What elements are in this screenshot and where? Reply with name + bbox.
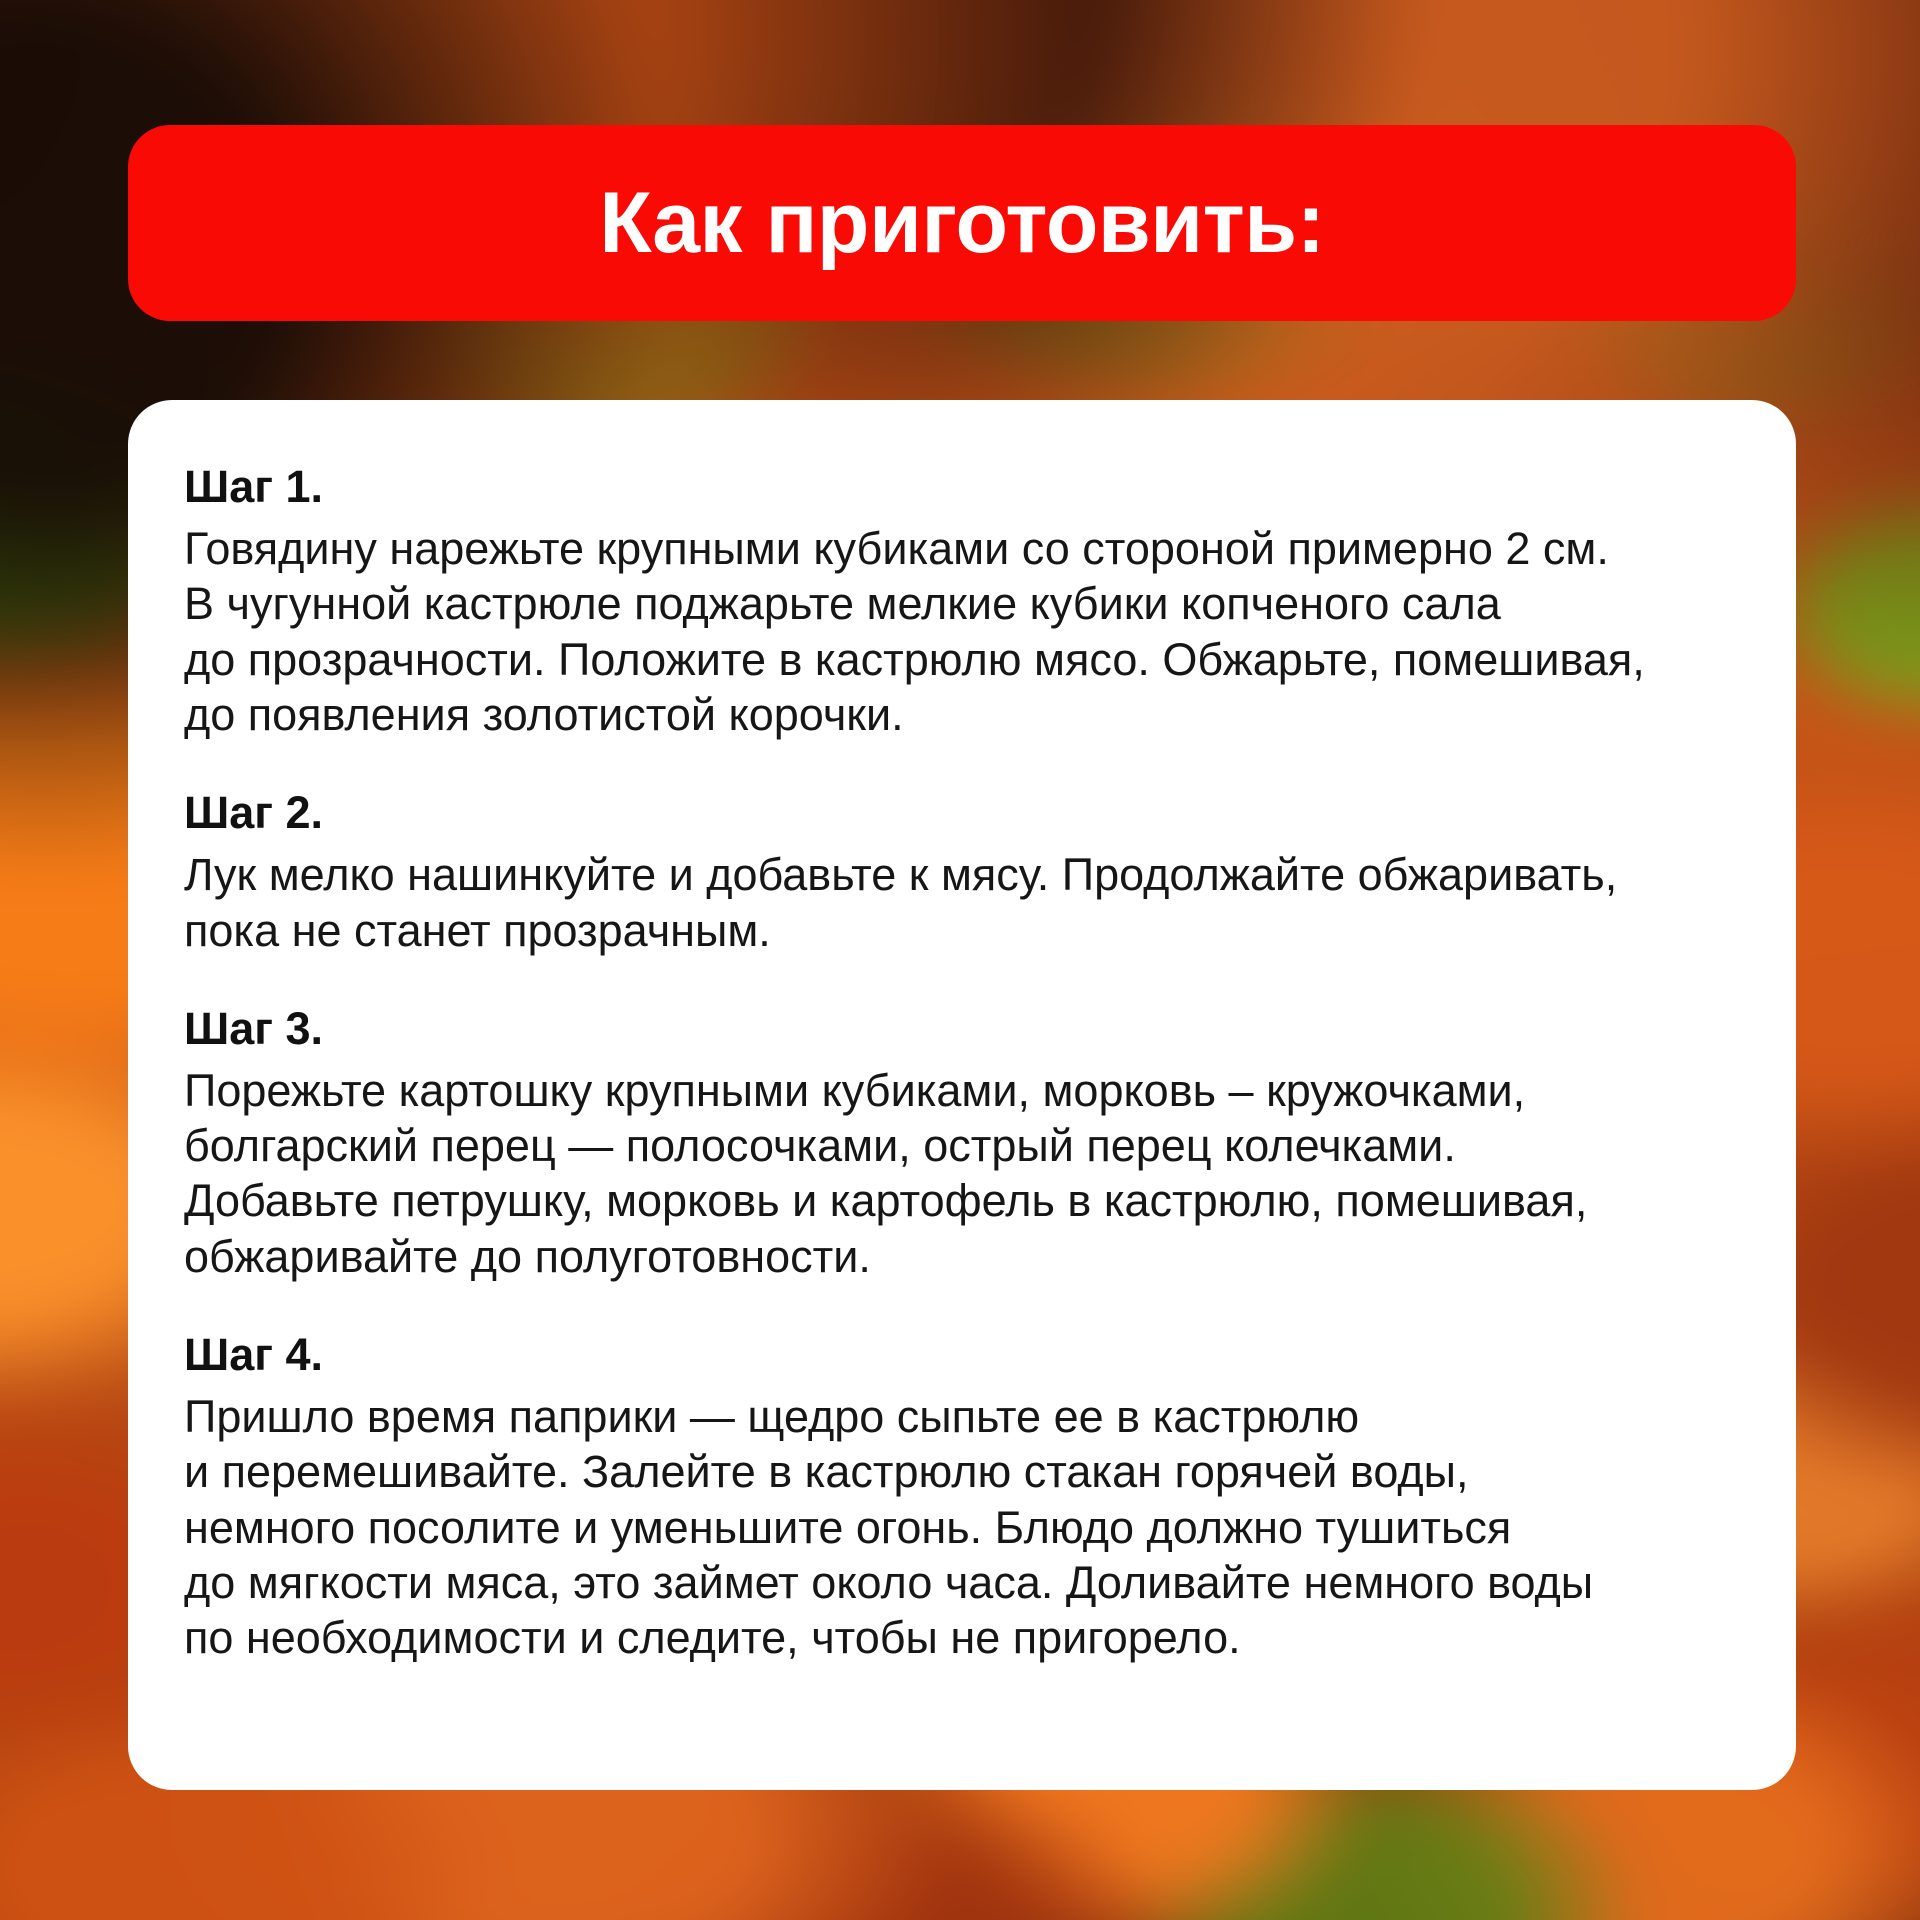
step-heading-3: Шаг 3.	[184, 1002, 1740, 1057]
step-heading-2: Шаг 2.	[184, 786, 1740, 841]
steps-card: Шаг 1. Говядину нарежьте крупными кубика…	[128, 400, 1796, 1790]
step-block-2: Шаг 2. Лук мелко нашинкуйте и добавьте к…	[184, 786, 1740, 958]
recipe-card-page: Как приготовить: Шаг 1. Говядину нарежьт…	[0, 0, 1920, 1920]
step-block-1: Шаг 1. Говядину нарежьте крупными кубика…	[184, 460, 1740, 742]
step-body-3: Порежьте картошку крупными кубиками, мор…	[184, 1063, 1740, 1284]
page-title: Как приготовить:	[599, 180, 1325, 266]
step-body-1: Говядину нарежьте крупными кубиками со с…	[184, 521, 1740, 742]
step-block-3: Шаг 3. Порежьте картошку крупными кубика…	[184, 1002, 1740, 1284]
step-body-2: Лук мелко нашинкуйте и добавьте к мясу. …	[184, 847, 1740, 958]
step-heading-1: Шаг 1.	[184, 460, 1740, 515]
step-block-4: Шаг 4. Пришло время паприки — щедро сыпь…	[184, 1328, 1740, 1666]
title-banner: Как приготовить:	[128, 125, 1796, 321]
step-heading-4: Шаг 4.	[184, 1328, 1740, 1383]
step-body-4: Пришло время паприки — щедро сыпьте ее в…	[184, 1389, 1740, 1666]
